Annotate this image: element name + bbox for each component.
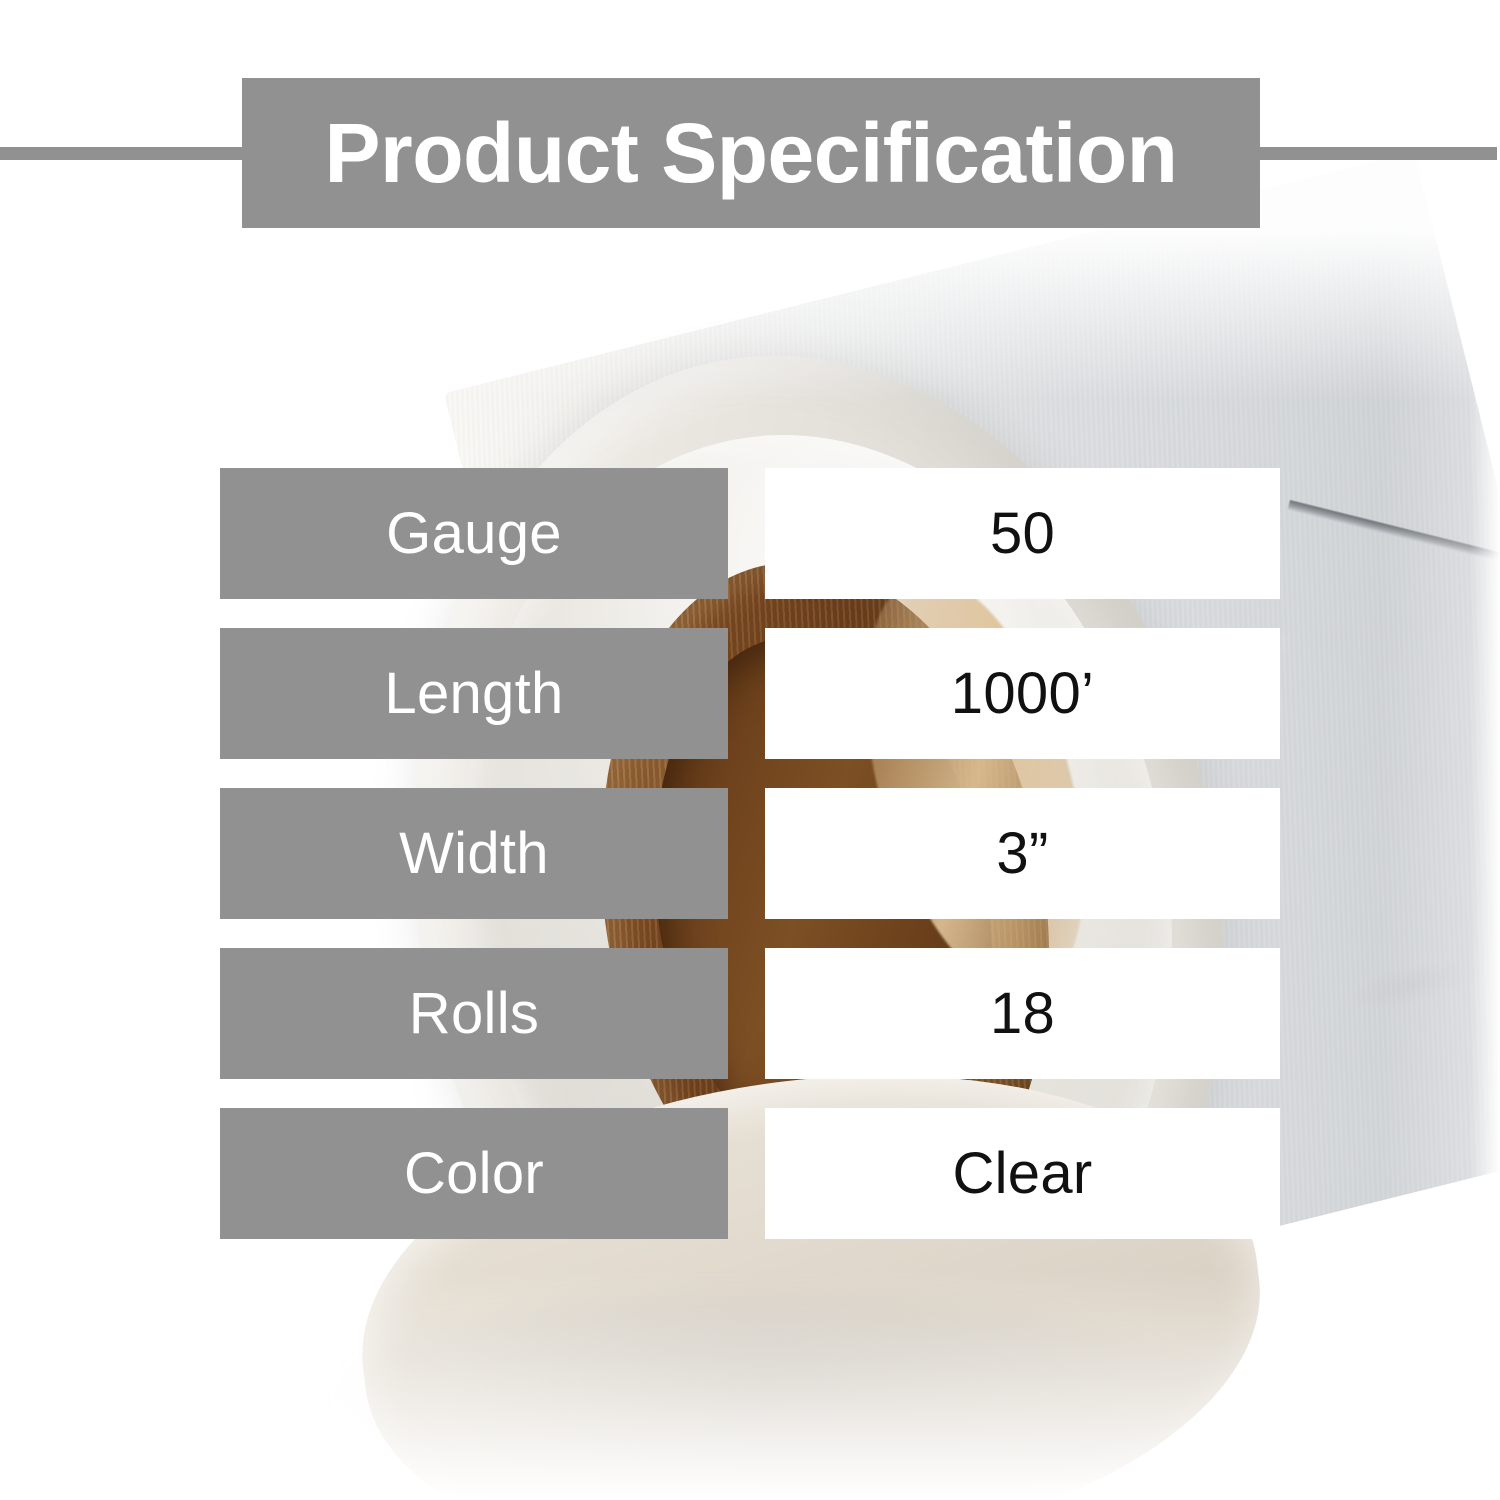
spec-value-text: 50	[990, 505, 1055, 563]
table-row: Rolls 18	[0, 948, 1500, 1079]
spec-label-text: Rolls	[409, 985, 539, 1043]
spec-value-text: 1000’	[951, 665, 1094, 723]
spec-value-color: Clear	[765, 1108, 1280, 1239]
spec-value-text: 18	[990, 985, 1055, 1043]
spec-value-rolls: 18	[765, 948, 1280, 1079]
spec-value-text: 3”	[996, 825, 1048, 883]
specification-table: Gauge 50 Length 1000’ Width 3” Roll	[0, 0, 1500, 1500]
spec-value-length: 1000’	[765, 628, 1280, 759]
table-row: Color Clear	[0, 1108, 1500, 1239]
spec-label-text: Gauge	[386, 505, 562, 563]
table-row: Width 3”	[0, 788, 1500, 919]
spec-label-length: Length	[220, 628, 728, 759]
spec-value-gauge: 50	[765, 468, 1280, 599]
spec-label-width: Width	[220, 788, 728, 919]
spec-label-text: Color	[404, 1145, 544, 1203]
spec-label-rolls: Rolls	[220, 948, 728, 1079]
table-row: Length 1000’	[0, 628, 1500, 759]
table-row: Gauge 50	[0, 468, 1500, 599]
spec-label-text: Width	[399, 825, 549, 883]
spec-label-gauge: Gauge	[220, 468, 728, 599]
spec-label-text: Length	[384, 665, 563, 723]
spec-value-text: Clear	[952, 1145, 1092, 1203]
spec-label-color: Color	[220, 1108, 728, 1239]
spec-value-width: 3”	[765, 788, 1280, 919]
product-specification-card: Product Specification Gauge 50 Length 10…	[0, 0, 1500, 1500]
